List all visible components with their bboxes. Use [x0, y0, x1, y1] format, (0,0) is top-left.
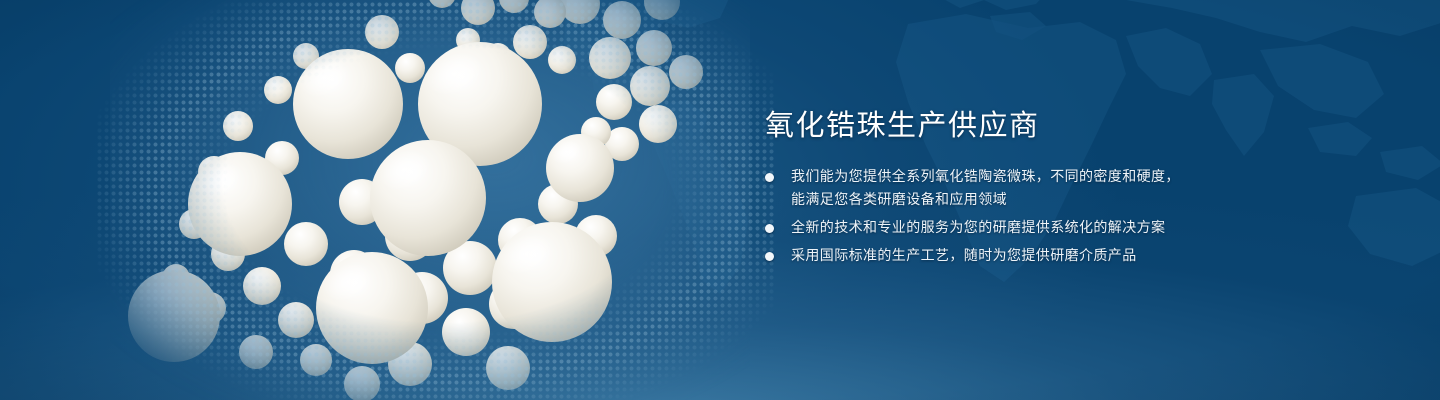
banner-copy-block: 氧化锆珠生产供应商 我们能为您提供全系列氧化锆陶瓷微珠，不同的密度和硬度， 能满…: [765, 108, 1365, 267]
bullet-line: 采用国际标准的生产工艺，随时为您提供研磨介质产品: [791, 245, 1365, 267]
list-item: 我们能为您提供全系列氧化锆陶瓷微珠，不同的密度和硬度， 能满足您各类研磨设备和应…: [765, 166, 1365, 211]
bullet-dot-icon: [765, 224, 774, 233]
bullet-dot-icon: [765, 252, 774, 261]
bullet-dot-icon: [765, 173, 774, 182]
banner-bullet-list: 我们能为您提供全系列氧化锆陶瓷微珠，不同的密度和硬度， 能满足您各类研磨设备和应…: [765, 166, 1365, 267]
bullet-line: 全新的技术和专业的服务为您的研磨提供系统化的解决方案: [791, 217, 1365, 239]
bullet-line: 能满足您各类研磨设备和应用领域: [791, 189, 1365, 211]
list-item: 采用国际标准的生产工艺，随时为您提供研磨介质产品: [765, 245, 1365, 267]
list-item: 全新的技术和专业的服务为您的研磨提供系统化的解决方案: [765, 217, 1365, 239]
hero-banner: 氧化锆珠生产供应商 我们能为您提供全系列氧化锆陶瓷微珠，不同的密度和硬度， 能满…: [0, 0, 1440, 400]
bullet-line: 我们能为您提供全系列氧化锆陶瓷微珠，不同的密度和硬度，: [791, 166, 1365, 188]
banner-headline: 氧化锆珠生产供应商: [765, 108, 1365, 142]
